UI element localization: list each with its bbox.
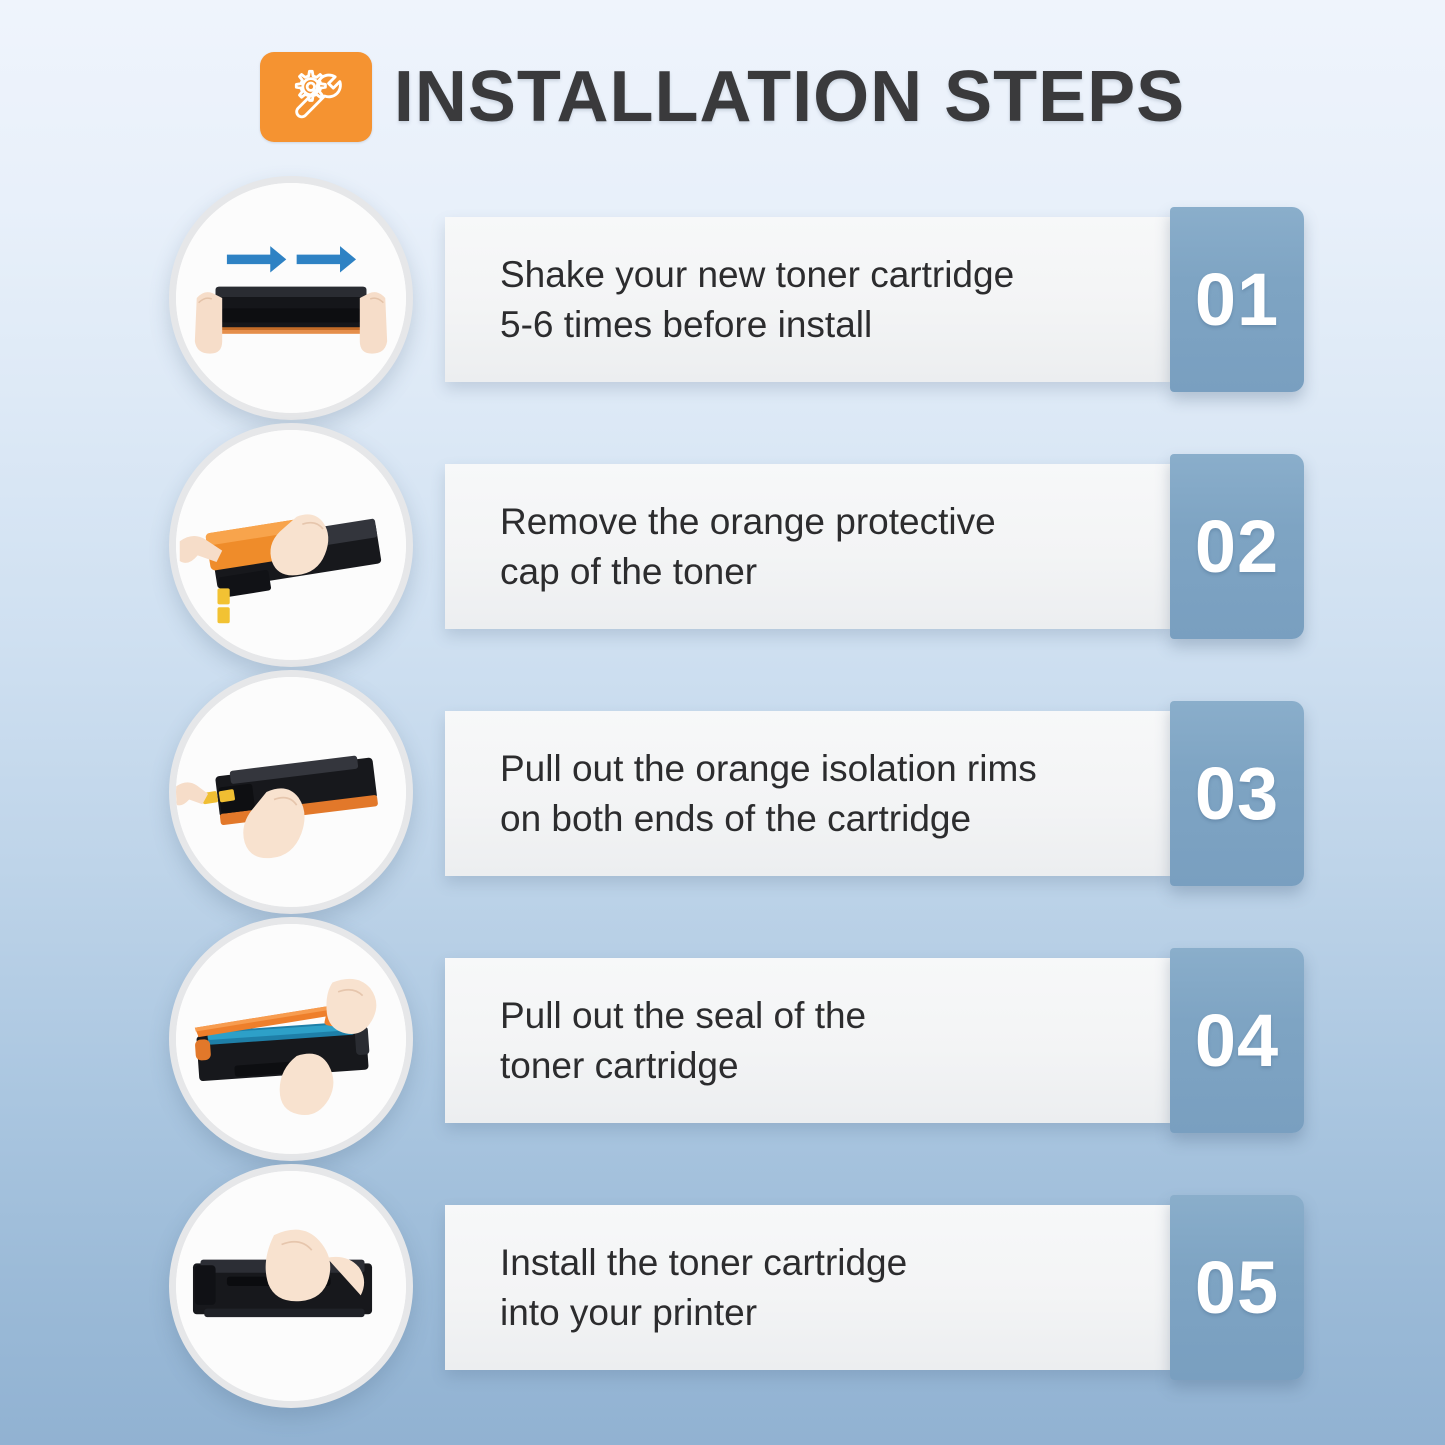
step-description-line2: 5-6 times before install [500,300,1014,349]
step-description-line1: Shake your new toner cartridge [500,250,1014,299]
step-description: Pull out the seal of the toner cartridge [445,991,884,1089]
step-description: Pull out the orange isolation rims on bo… [445,744,1055,842]
step-number: 02 [1195,510,1279,584]
steps-list: Shake your new toner cartridge 5-6 times… [0,176,1445,1411]
step-row: Pull out the seal of the toner cartridge… [0,917,1445,1164]
step-description-line1: Pull out the orange isolation rims [500,744,1037,793]
step-image-pull-seal [169,917,413,1161]
step-number-badge: 02 [1170,454,1304,639]
step-description-line1: Install the toner cartridge [500,1238,907,1287]
page-header: INSTALLATION STEPS [0,47,1445,147]
step-description: Install the toner cartridge into your pr… [445,1238,925,1336]
step-image-install-into-printer [169,1164,413,1408]
step-row: Shake your new toner cartridge 5-6 times… [0,176,1445,423]
step-description-line2: cap of the toner [500,547,996,596]
step-number-badge: 03 [1170,701,1304,886]
step-number-badge: 04 [1170,948,1304,1133]
page-title: INSTALLATION STEPS [394,61,1185,133]
step-number: 01 [1195,263,1279,337]
step-description-line1: Pull out the seal of the [500,991,866,1040]
step-image-pull-isolation-rims [169,670,413,914]
step-description-line2: toner cartridge [500,1041,866,1090]
step-number: 05 [1195,1251,1279,1325]
step-number-badge: 01 [1170,207,1304,392]
step-description-line2: on both ends of the cartridge [500,794,1037,843]
step-image-shake-cartridge [169,176,413,420]
step-row: Remove the orange protective cap of the … [0,423,1445,670]
step-description-line2: into your printer [500,1288,907,1337]
step-image-remove-orange-cap [169,423,413,667]
step-description: Shake your new toner cartridge 5-6 times… [445,250,1032,348]
step-row: Install the toner cartridge into your pr… [0,1164,1445,1411]
step-text-panel: Remove the orange protective cap of the … [445,464,1170,629]
step-description-line1: Remove the orange protective [500,497,996,546]
step-number: 03 [1195,757,1279,831]
step-row: Pull out the orange isolation rims on bo… [0,670,1445,917]
step-number-badge: 05 [1170,1195,1304,1380]
step-text-panel: Pull out the seal of the toner cartridge [445,958,1170,1123]
step-text-panel: Install the toner cartridge into your pr… [445,1205,1170,1370]
step-description: Remove the orange protective cap of the … [445,497,1014,595]
gear-wrench-icon [260,52,372,142]
step-text-panel: Pull out the orange isolation rims on bo… [445,711,1170,876]
step-number: 04 [1195,1004,1279,1078]
step-text-panel: Shake your new toner cartridge 5-6 times… [445,217,1170,382]
